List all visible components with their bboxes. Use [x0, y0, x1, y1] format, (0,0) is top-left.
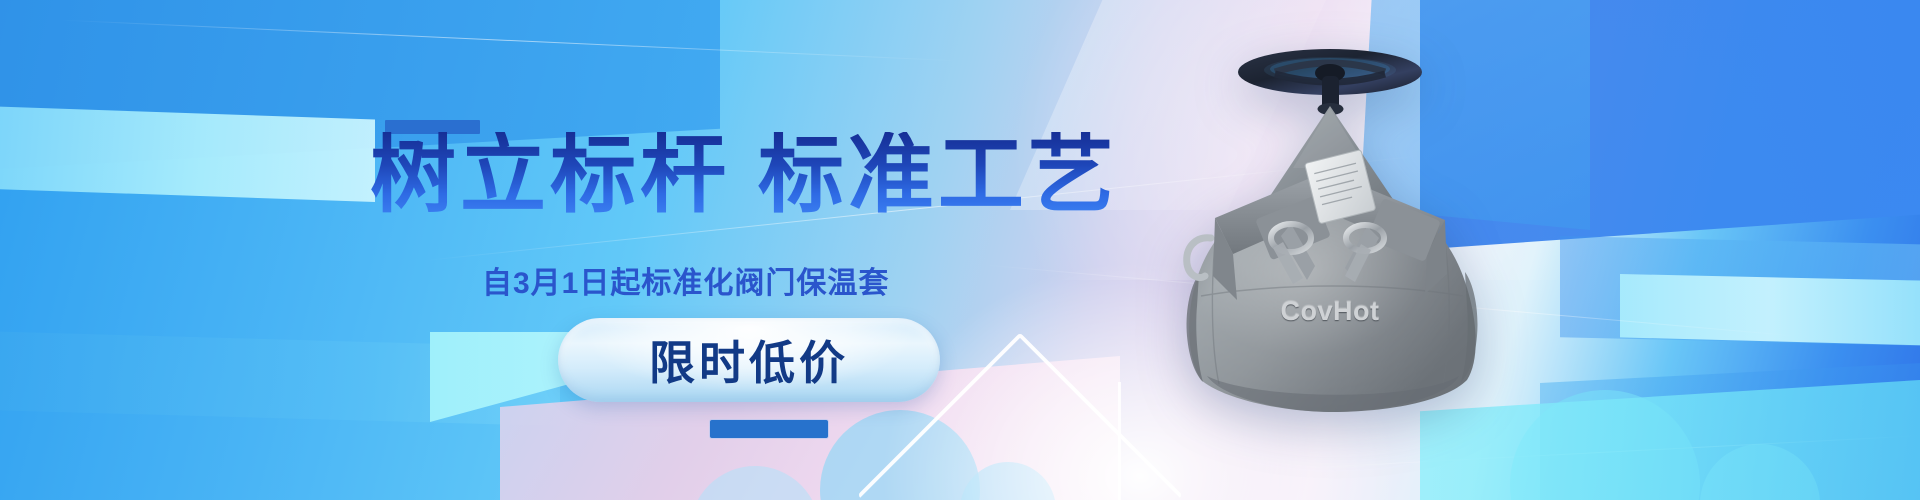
subtitle: 自3月1日起标准化阀门保温套	[482, 258, 889, 302]
cta-button[interactable]: 限时低价	[558, 318, 940, 402]
promo-banner: 树立标杆 标准工艺 自3月1日起标准化阀门保温套 限时低价	[0, 0, 1920, 500]
valve-handwheel-icon	[1238, 49, 1422, 115]
background-decoration	[0, 0, 1920, 500]
page-title: 树立标杆 标准工艺	[370, 132, 1118, 218]
cta-button-label: 限时低价	[649, 327, 849, 393]
cta-underline-bar	[710, 420, 828, 438]
bg-ribbon-right	[1620, 274, 1920, 346]
product-image: CovHot	[1115, 28, 1545, 448]
bg-ribbon-upper-left	[0, 106, 375, 202]
valve-jacket-illustration	[1115, 28, 1545, 448]
